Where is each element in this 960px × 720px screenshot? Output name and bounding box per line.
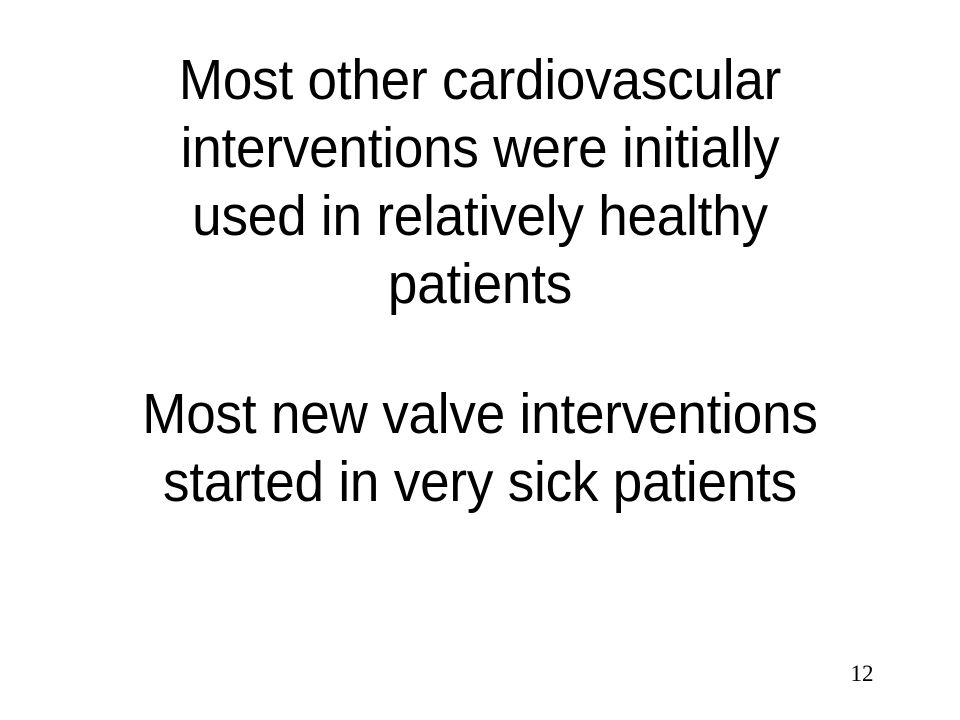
page-number: 12 — [842, 660, 882, 687]
paragraph-spacer — [60, 318, 900, 380]
slide-canvas: Most other cardiovascular interventions … — [0, 0, 960, 720]
body-paragraph-1: Most other cardiovascular interventions … — [89, 46, 870, 318]
body-paragraph-2: Most new valve interventions started in … — [89, 380, 870, 516]
slide-body: Most other cardiovascular interventions … — [60, 46, 900, 516]
